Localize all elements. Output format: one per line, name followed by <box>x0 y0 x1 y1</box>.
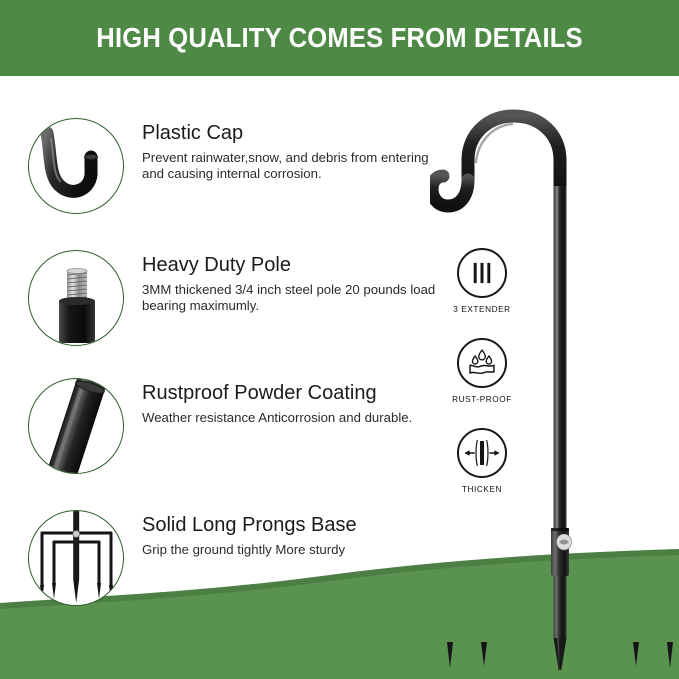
feature-title: Rustproof Powder Coating <box>142 382 448 405</box>
feature-row-rustproof-powder-coating: Rustproof Powder Coating Weather resista… <box>28 378 448 474</box>
feature-description: Weather resistance Anticorrosion and dur… <box>142 410 448 426</box>
plastic-cap-hook-icon <box>28 118 124 214</box>
feature-title: Heavy Duty Pole <box>142 254 448 277</box>
feature-description: Prevent rainwater,snow, and debris from … <box>142 150 448 182</box>
badge-label: THICKEN <box>443 485 521 494</box>
threaded-pole-icon <box>28 250 124 346</box>
feature-title: Plastic Cap <box>142 122 448 145</box>
badge-3-extender: 3 EXTENDER <box>443 248 521 314</box>
badge-thicken: THICKEN <box>443 428 521 494</box>
water-droplets-icon <box>457 338 507 388</box>
feature-description: 3MM thickened 3/4 inch steel pole 20 pou… <box>142 282 448 314</box>
thickness-arrows-icon <box>457 428 507 478</box>
feature-text: Plastic Cap Prevent rainwater,snow, and … <box>124 118 448 182</box>
feature-row-plastic-cap: Plastic Cap Prevent rainwater,snow, and … <box>28 118 448 214</box>
badge-label: 3 EXTENDER <box>443 305 521 314</box>
three-bars-icon <box>457 248 507 298</box>
feature-text: Rustproof Powder Coating Weather resista… <box>124 378 448 426</box>
header-banner: HIGH QUALITY COMES FROM DETAILS <box>0 0 679 76</box>
feature-row-solid-long-prongs-base: Solid Long Prongs Base Grip the ground t… <box>28 510 448 606</box>
feature-description: Grip the ground tightly More sturdy <box>142 542 448 558</box>
infographic-page: HIGH QUALITY COMES FROM DETAILS <box>0 0 679 679</box>
feature-row-heavy-duty-pole: Heavy Duty Pole 3MM thickened 3/4 inch s… <box>28 250 448 346</box>
badge-label: RUST-PROOF <box>443 395 521 404</box>
powder-coated-tube-icon <box>28 378 124 474</box>
feature-text: Solid Long Prongs Base Grip the ground t… <box>124 510 448 558</box>
feature-text: Heavy Duty Pole 3MM thickened 3/4 inch s… <box>124 250 448 314</box>
badge-rust-proof: RUST-PROOF <box>443 338 521 404</box>
feature-title: Solid Long Prongs Base <box>142 514 448 537</box>
page-title: HIGH QUALITY COMES FROM DETAILS <box>96 22 582 54</box>
prongs-base-icon <box>28 510 124 606</box>
